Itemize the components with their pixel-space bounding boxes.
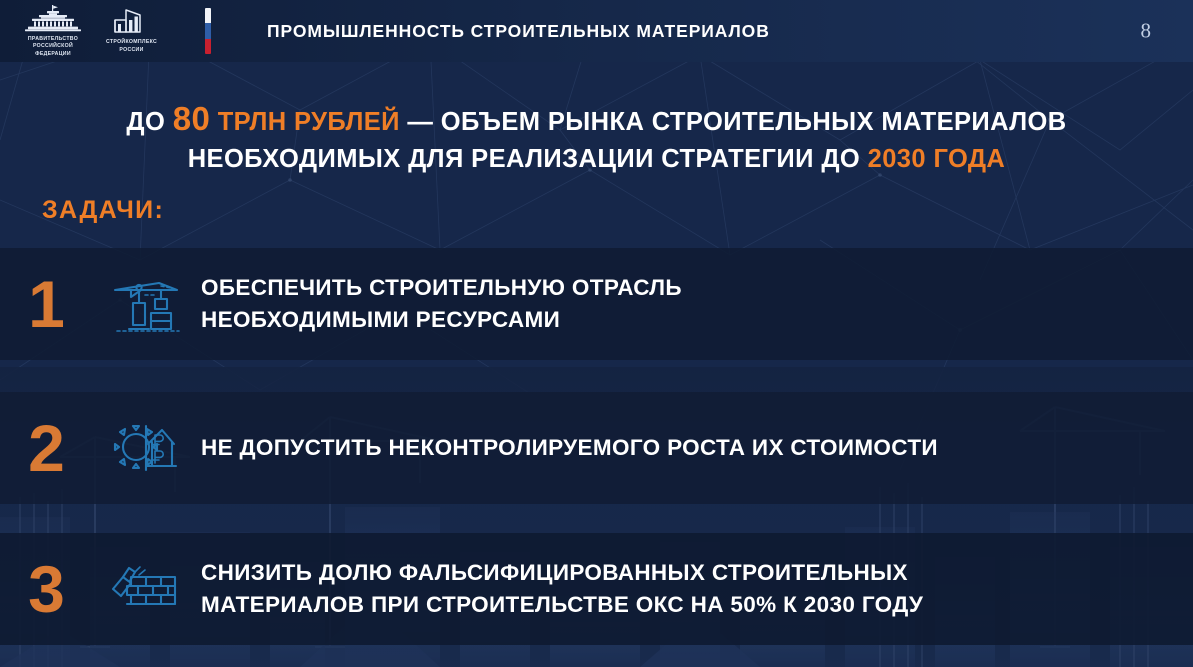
headline-unit: ТРЛН РУБЛЕЙ — [210, 108, 400, 136]
tower-crane-icon — [92, 273, 197, 335]
task-3-line-1: СНИЗИТЬ ДОЛЮ ФАЛЬСИФИЦИРОВАННЫХ СТРОИТЕЛ… — [201, 557, 923, 589]
task-1-line-2: НЕОБХОДИМЫМИ РЕСУРСАМИ — [201, 304, 682, 336]
task-number-2: 2 — [0, 415, 92, 481]
task-text-2: НЕ ДОПУСТИТЬ НЕКОНТРОЛИРУЕМОГО РОСТА ИХ … — [197, 432, 938, 464]
stroykompleks-logo: СТРОЙКОМПЛЕКС РОССИИ — [106, 7, 157, 54]
flag-stripe-white — [205, 8, 211, 23]
headline-line-1: ДО 80 ТРЛН РУБЛЕЙ — ОБЪЕМ РЫНКА СТРОИТЕЛ… — [0, 96, 1193, 142]
government-logo-caption: ПРАВИТЕЛЬСТВО РОССИЙСКОЙ ФЕДЕРАЦИИ — [28, 36, 78, 59]
government-logo: ПРАВИТЕЛЬСТВО РОССИЙСКОЙ ФЕДЕРАЦИИ — [22, 4, 84, 59]
buildings-chart-icon — [112, 7, 152, 37]
task-number-1: 1 — [0, 271, 92, 337]
tasks-label: ЗАДАЧИ: — [42, 196, 164, 225]
headline-line2-prefix: НЕОБХОДИМЫХ ДЛЯ РЕАЛИЗАЦИИ СТРАТЕГИИ ДО — [188, 145, 868, 173]
task-text-1: ОБЕСПЕЧИТЬ СТРОИТЕЛЬНУЮ ОТРАСЛЬ НЕОБХОДИ… — [197, 272, 682, 336]
task-2-line-1: НЕ ДОПУСТИТЬ НЕКОНТРОЛИРУЕМОГО РОСТА ИХ … — [201, 432, 938, 464]
russian-flag-separator — [205, 8, 211, 54]
task-band-1: 1 — [0, 248, 1193, 360]
task-band-3: 3 СНИЗИТ — [0, 533, 1193, 645]
header-title: ПРОМЫШЛЕННОСТЬ СТРОИТЕЛЬНЫХ МАТЕРИАЛОВ — [267, 21, 770, 42]
logo-group: ПРАВИТЕЛЬСТВО РОССИЙСКОЙ ФЕДЕРАЦИИ — [0, 0, 770, 62]
government-building-icon — [22, 4, 84, 34]
brick-wall-trowel-icon — [92, 561, 197, 617]
headline-prefix: ДО — [126, 108, 172, 136]
flag-stripe-red — [205, 39, 211, 54]
task-band-2: 2 — [0, 392, 1193, 504]
task-1-line-1: ОБЕСПЕЧИТЬ СТРОИТЕЛЬНУЮ ОТРАСЛЬ — [201, 272, 682, 304]
headline-block: ДО 80 ТРЛН РУБЛЕЙ — ОБЪЕМ РЫНКА СТРОИТЕЛ… — [0, 96, 1193, 177]
slide-root: ПРАВИТЕЛЬСТВО РОССИЙСКОЙ ФЕДЕРАЦИИ — [0, 0, 1193, 667]
page-number: 8 — [1141, 19, 1152, 44]
stroykompleks-logo-caption: СТРОЙКОМПЛЕКС РОССИИ — [106, 39, 157, 54]
task-text-3: СНИЗИТЬ ДОЛЮ ФАЛЬСИФИЦИРОВАННЫХ СТРОИТЕЛ… — [197, 557, 923, 621]
headline-dash: — — [400, 108, 441, 136]
task-number-3: 3 — [0, 556, 92, 622]
headline-line-2: НЕОБХОДИМЫХ ДЛЯ РЕАЛИЗАЦИИ СТРАТЕГИИ ДО … — [0, 142, 1193, 177]
task-3-line-2: МАТЕРИАЛОВ ПРИ СТРОИТЕЛЬСТВЕ ОКС НА 50% … — [201, 589, 923, 621]
headline-rest: ОБЪЕМ РЫНКА СТРОИТЕЛЬНЫХ МАТЕРИАЛОВ — [441, 108, 1067, 136]
headline-line2-accent: 2030 ГОДА — [868, 145, 1006, 173]
headline-amount: 80 — [173, 100, 211, 137]
gear-house-ruble-icon — [92, 418, 197, 478]
slide-header: ПРАВИТЕЛЬСТВО РОССИЙСКОЙ ФЕДЕРАЦИИ — [0, 0, 1193, 62]
flag-stripe-blue — [205, 23, 211, 38]
